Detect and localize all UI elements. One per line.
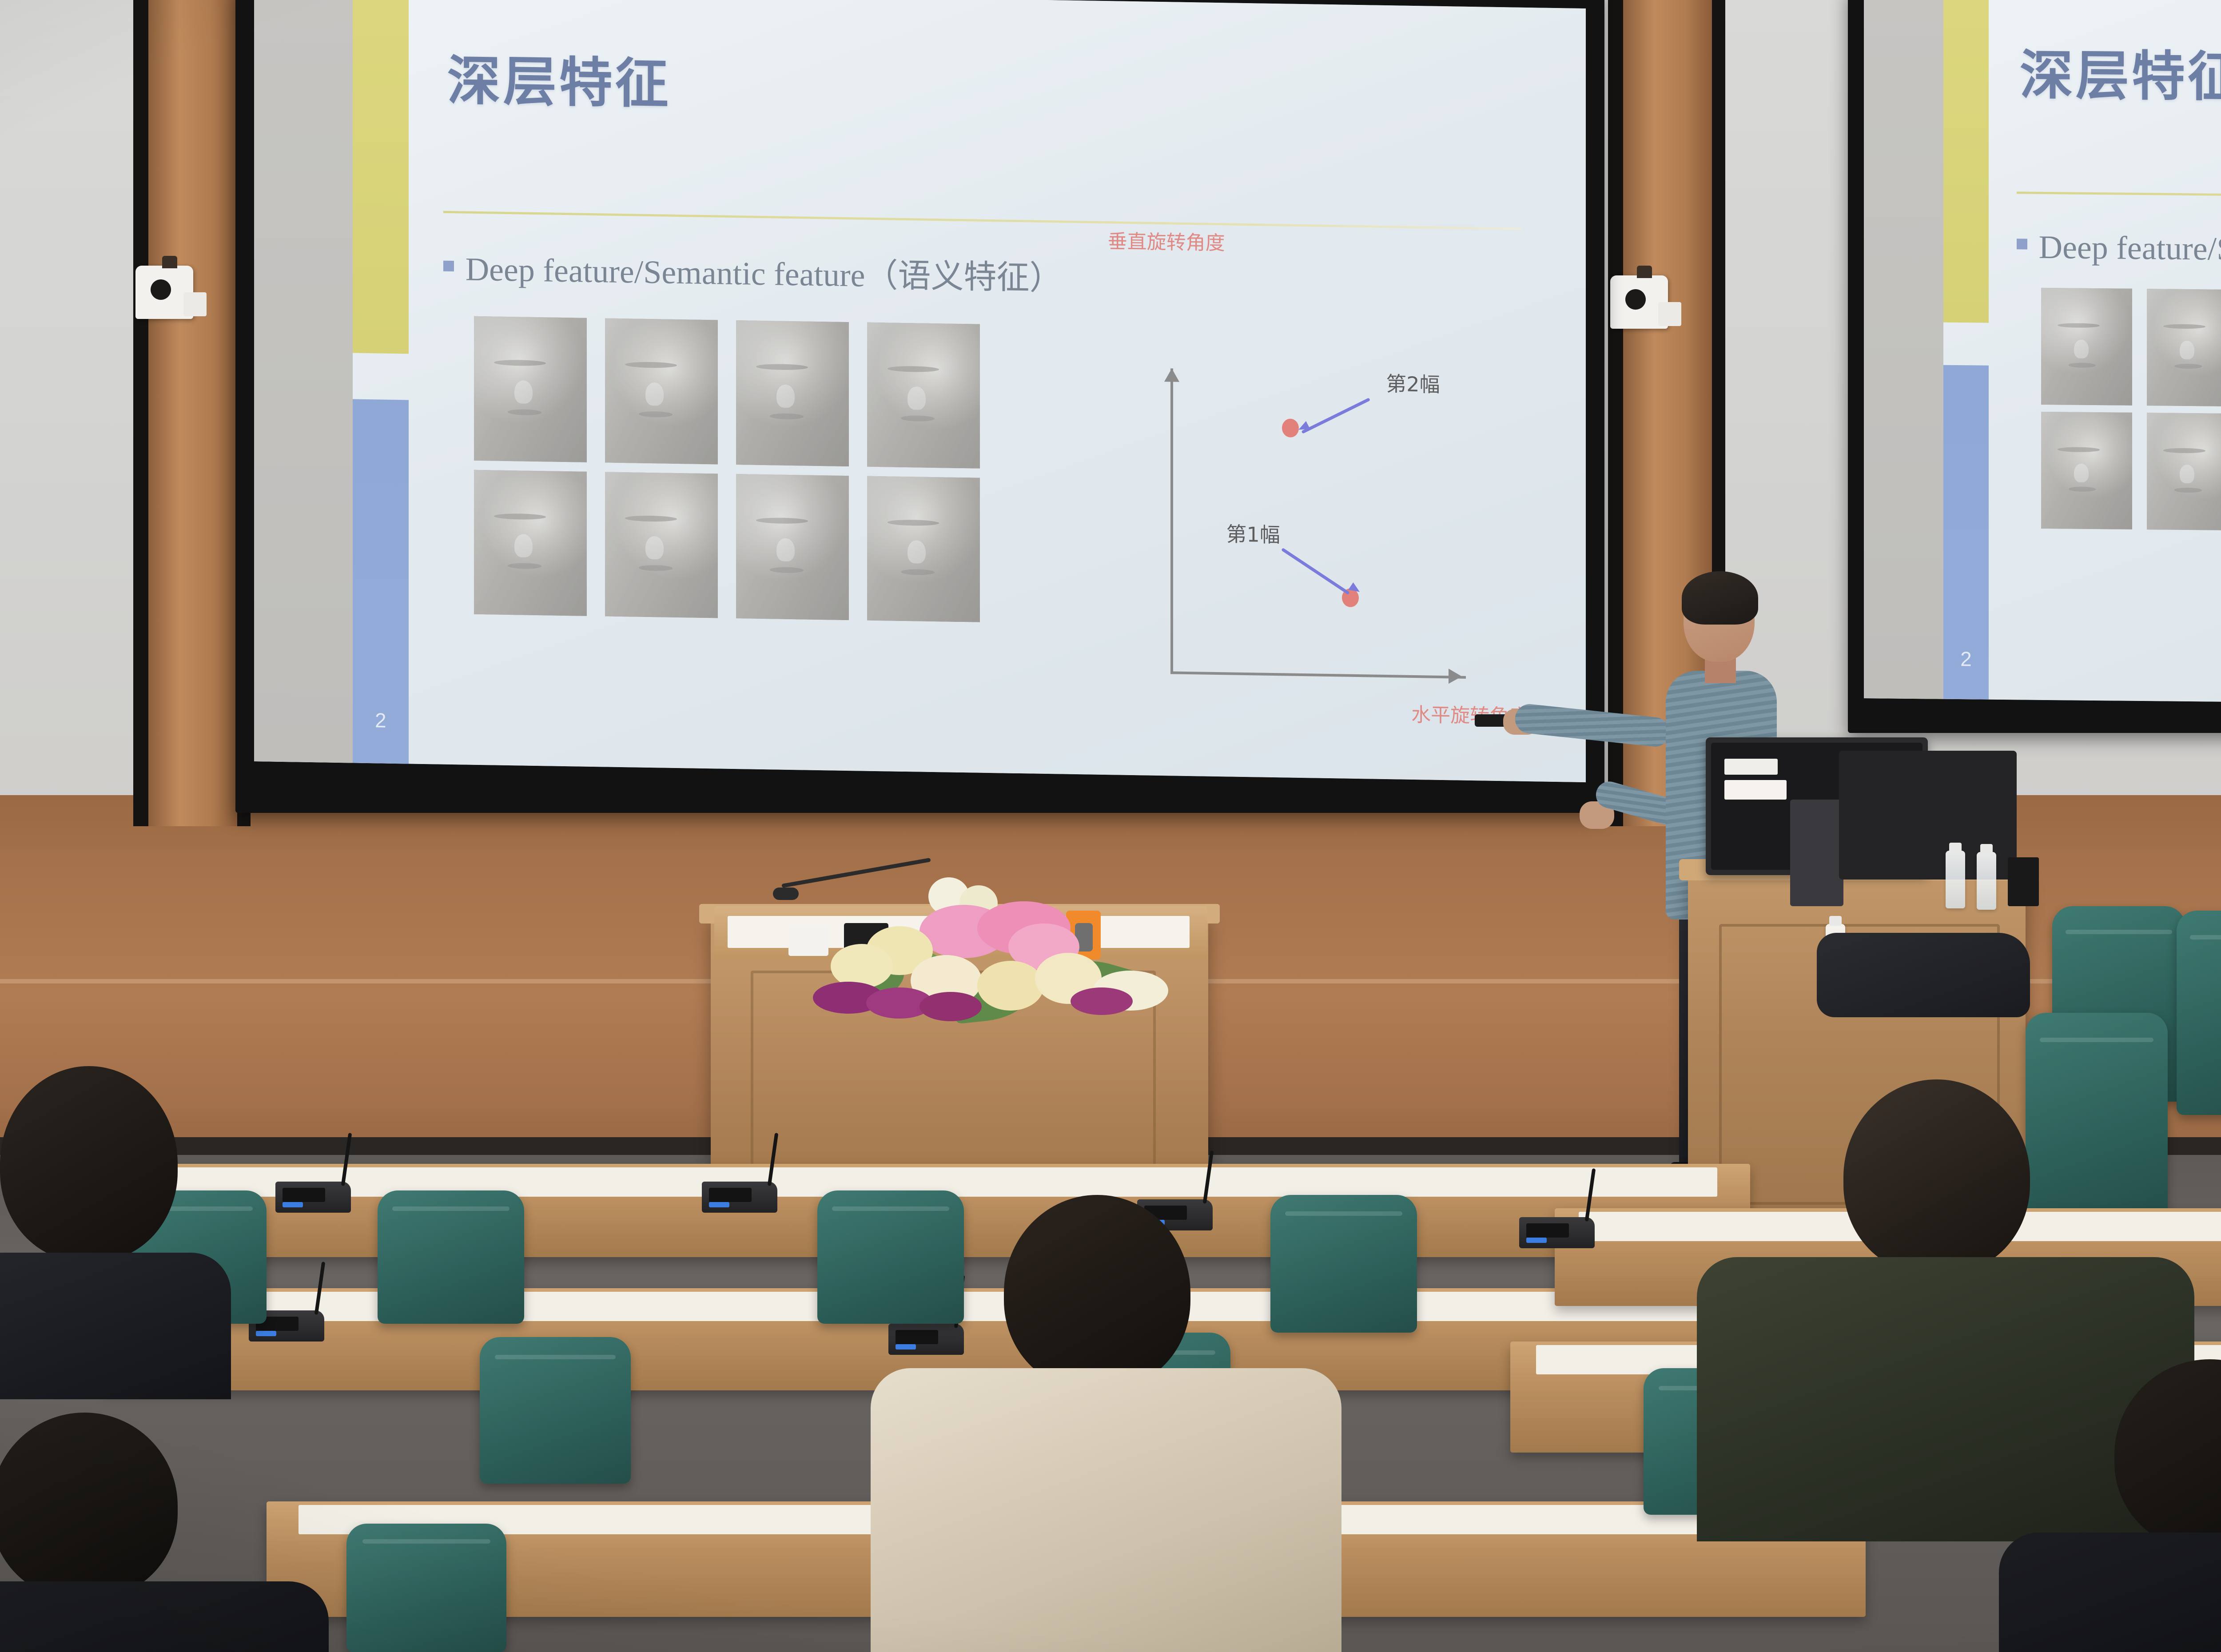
audience-chair[interactable] bbox=[346, 1524, 506, 1652]
slide-bullet-text: Deep feature/Semantic feature（语义特征） bbox=[2039, 220, 2221, 274]
monitor-label-sticker bbox=[1724, 780, 1787, 800]
face-thumbnail bbox=[2147, 413, 2221, 530]
bullet-square-icon bbox=[2017, 239, 2027, 249]
speaker-bracket bbox=[1658, 302, 1681, 326]
conference-microphone-unit[interactable] bbox=[275, 1182, 351, 1213]
water-bottle bbox=[1977, 852, 1996, 910]
face-thumbnail bbox=[2041, 288, 2132, 405]
conference-microphone-unit[interactable] bbox=[702, 1182, 777, 1213]
face-thumbnail bbox=[605, 472, 718, 618]
annotation-arrow-1 bbox=[1282, 548, 1350, 595]
wall-column-left bbox=[133, 0, 251, 826]
rotation-angle-scatter-plot: 垂直旋转角度 水平旋转角度 第2幅 第1幅 bbox=[1107, 295, 1506, 704]
speaker-mount bbox=[1637, 266, 1652, 278]
face-thumbnail bbox=[867, 476, 980, 622]
audience-chair[interactable] bbox=[378, 1190, 524, 1324]
slide-gray-band bbox=[1864, 0, 1943, 699]
speaker-cone bbox=[1625, 289, 1646, 310]
face-thumbnail bbox=[2147, 289, 2221, 406]
monitor-label-sticker bbox=[1724, 759, 1778, 775]
screen-surface-right: 2 深层特征 Deep feature/Semantic feature（语义特… bbox=[1864, 0, 2221, 709]
slide-left: 2 深层特征 Deep feature/Semantic feature（语义特… bbox=[254, 0, 1586, 782]
bullet-square-icon bbox=[443, 260, 454, 271]
slide-title-rule bbox=[2017, 191, 2221, 202]
wall-speaker-icon bbox=[135, 266, 193, 319]
slide-accent-yellow bbox=[353, 0, 409, 354]
y-axis-line bbox=[1170, 368, 1173, 674]
face-image-grid bbox=[2041, 288, 2221, 525]
speaker-bracket bbox=[183, 292, 207, 316]
annotation-label-1: 第1幅 bbox=[1226, 518, 1280, 549]
face-thumbnail bbox=[2041, 412, 2132, 529]
slide-title: 深层特征 bbox=[2020, 32, 2221, 111]
x-axis-arrow-icon bbox=[1449, 669, 1462, 684]
face-thumbnail bbox=[605, 318, 718, 464]
slide-right: 2 深层特征 Deep feature/Semantic feature（语义特… bbox=[1864, 0, 2221, 709]
desk-black-box bbox=[2008, 857, 2039, 906]
face-thumbnail bbox=[736, 474, 849, 620]
face-thumbnail bbox=[474, 316, 587, 462]
face-thumbnail bbox=[736, 320, 849, 466]
water-bottle bbox=[1946, 851, 1965, 908]
slide-title: 深层特征 bbox=[447, 37, 671, 118]
computer-tower bbox=[1790, 800, 1843, 906]
slide-gray-band bbox=[254, 0, 353, 763]
slide-bullet-row: Deep feature/Semantic feature（语义特征） bbox=[443, 242, 1063, 299]
face-thumbnail bbox=[867, 322, 980, 468]
face-image-grid bbox=[474, 316, 980, 613]
audience-member-front-left-dark bbox=[0, 1066, 240, 1377]
lecture-hall-photo: 2 深层特征 Deep feature/Semantic feature（语义特… bbox=[0, 0, 2221, 1652]
folded-jacket-on-desk bbox=[1817, 933, 2030, 1017]
wall-speaker-icon bbox=[1610, 275, 1668, 329]
data-point-2 bbox=[1282, 418, 1299, 438]
slide-bullet-row: Deep feature/Semantic feature（语义特征） bbox=[2017, 220, 2221, 273]
x-axis-line bbox=[1170, 672, 1466, 679]
annotation-arrowhead-2-icon bbox=[1297, 421, 1310, 434]
slide-bullet-text: Deep feature/Semantic feature（语义特征） bbox=[466, 243, 1063, 299]
speaker-mount bbox=[162, 256, 177, 268]
audience-chair[interactable] bbox=[480, 1337, 631, 1484]
audience-member-front-cream-coat bbox=[871, 1195, 1341, 1652]
flower-arrangement bbox=[786, 877, 1186, 1037]
slide-title-rule bbox=[443, 211, 1522, 230]
speaker-cone bbox=[151, 279, 171, 300]
presenter-hair bbox=[1682, 571, 1758, 625]
audience-member-front-left-lower bbox=[0, 1413, 329, 1652]
annotation-arrow-2 bbox=[1302, 398, 1370, 434]
audience-member-dark-hair-center bbox=[2008, 1359, 2221, 1652]
y-axis-arrow-icon bbox=[1164, 368, 1179, 382]
slide-number: 2 bbox=[1943, 647, 1989, 671]
slide-number: 2 bbox=[353, 708, 409, 733]
y-axis-label: 垂直旋转角度 bbox=[1099, 231, 1234, 255]
slide-accent-yellow bbox=[1943, 0, 1989, 323]
annotation-label-2: 第2幅 bbox=[1386, 368, 1440, 398]
face-thumbnail bbox=[474, 470, 587, 616]
screen-surface-left: 2 深层特征 Deep feature/Semantic feature（语义特… bbox=[254, 0, 1586, 782]
conference-microphone-unit[interactable] bbox=[1519, 1217, 1595, 1248]
